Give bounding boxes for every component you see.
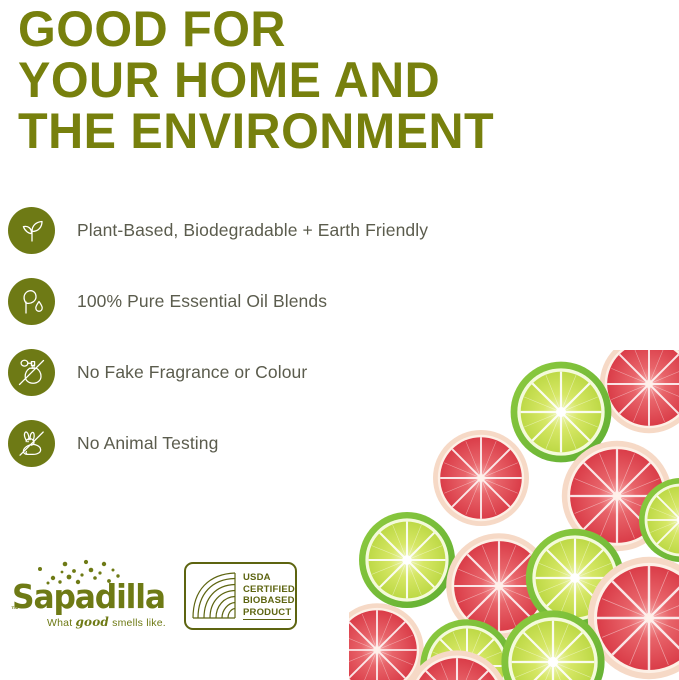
headline-line-3: THE ENVIRONMENT bbox=[18, 106, 600, 157]
sapadilla-logo: Sapadilla™ What good smells like. bbox=[12, 552, 160, 634]
usda-biobased-badge: USDA CERTIFIED BIOBASED PRODUCT bbox=[184, 562, 297, 630]
trademark-symbol: ™ bbox=[11, 605, 19, 614]
headline-line-2: YOUR HOME AND bbox=[18, 55, 600, 106]
tagline-emphasis: good bbox=[75, 615, 109, 629]
page-headline: GOOD FOR YOUR HOME AND THE ENVIRONMENT bbox=[18, 4, 618, 157]
usda-field-arc-icon bbox=[189, 568, 241, 624]
headline-line-1: GOOD FOR bbox=[18, 4, 600, 55]
sprout-leaves-icon bbox=[8, 207, 55, 254]
benefit-label: 100% Pure Essential Oil Blends bbox=[77, 291, 327, 312]
benefit-item-no-animal-testing: No Animal Testing bbox=[8, 411, 528, 476]
benefit-label: No Fake Fragrance or Colour bbox=[77, 362, 307, 383]
sapadilla-name: Sapadilla bbox=[12, 580, 165, 614]
benefit-item-plant-based: Plant-Based, Biodegradable + Earth Frien… bbox=[8, 198, 528, 263]
no-fragrance-icon bbox=[8, 349, 55, 396]
usda-line-3: BIOBASED bbox=[243, 595, 295, 607]
benefit-item-essential-oils: 100% Pure Essential Oil Blends bbox=[8, 269, 528, 334]
tagline-part-1: What bbox=[47, 617, 75, 629]
usda-line-2: CERTIFIED bbox=[243, 584, 295, 596]
tagline-part-2: smells like. bbox=[109, 617, 166, 629]
benefit-label: No Animal Testing bbox=[77, 433, 218, 454]
sapadilla-tagline: What good smells like. bbox=[47, 615, 166, 629]
sapadilla-wordmark: Sapadilla™ bbox=[12, 580, 160, 614]
usda-line-1: USDA bbox=[243, 572, 295, 584]
usda-badge-text: USDA CERTIFIED BIOBASED PRODUCT bbox=[243, 572, 295, 620]
benefit-label: Plant-Based, Biodegradable + Earth Frien… bbox=[77, 220, 428, 241]
benefits-list: Plant-Based, Biodegradable + Earth Frien… bbox=[8, 198, 528, 482]
usda-line-4: PRODUCT bbox=[243, 607, 291, 620]
leaf-droplet-icon bbox=[8, 278, 55, 325]
no-animal-testing-icon bbox=[8, 420, 55, 467]
benefit-item-no-fragrance: No Fake Fragrance or Colour bbox=[8, 340, 528, 405]
footer-logos: Sapadilla™ What good smells like. USDA C… bbox=[12, 552, 297, 634]
